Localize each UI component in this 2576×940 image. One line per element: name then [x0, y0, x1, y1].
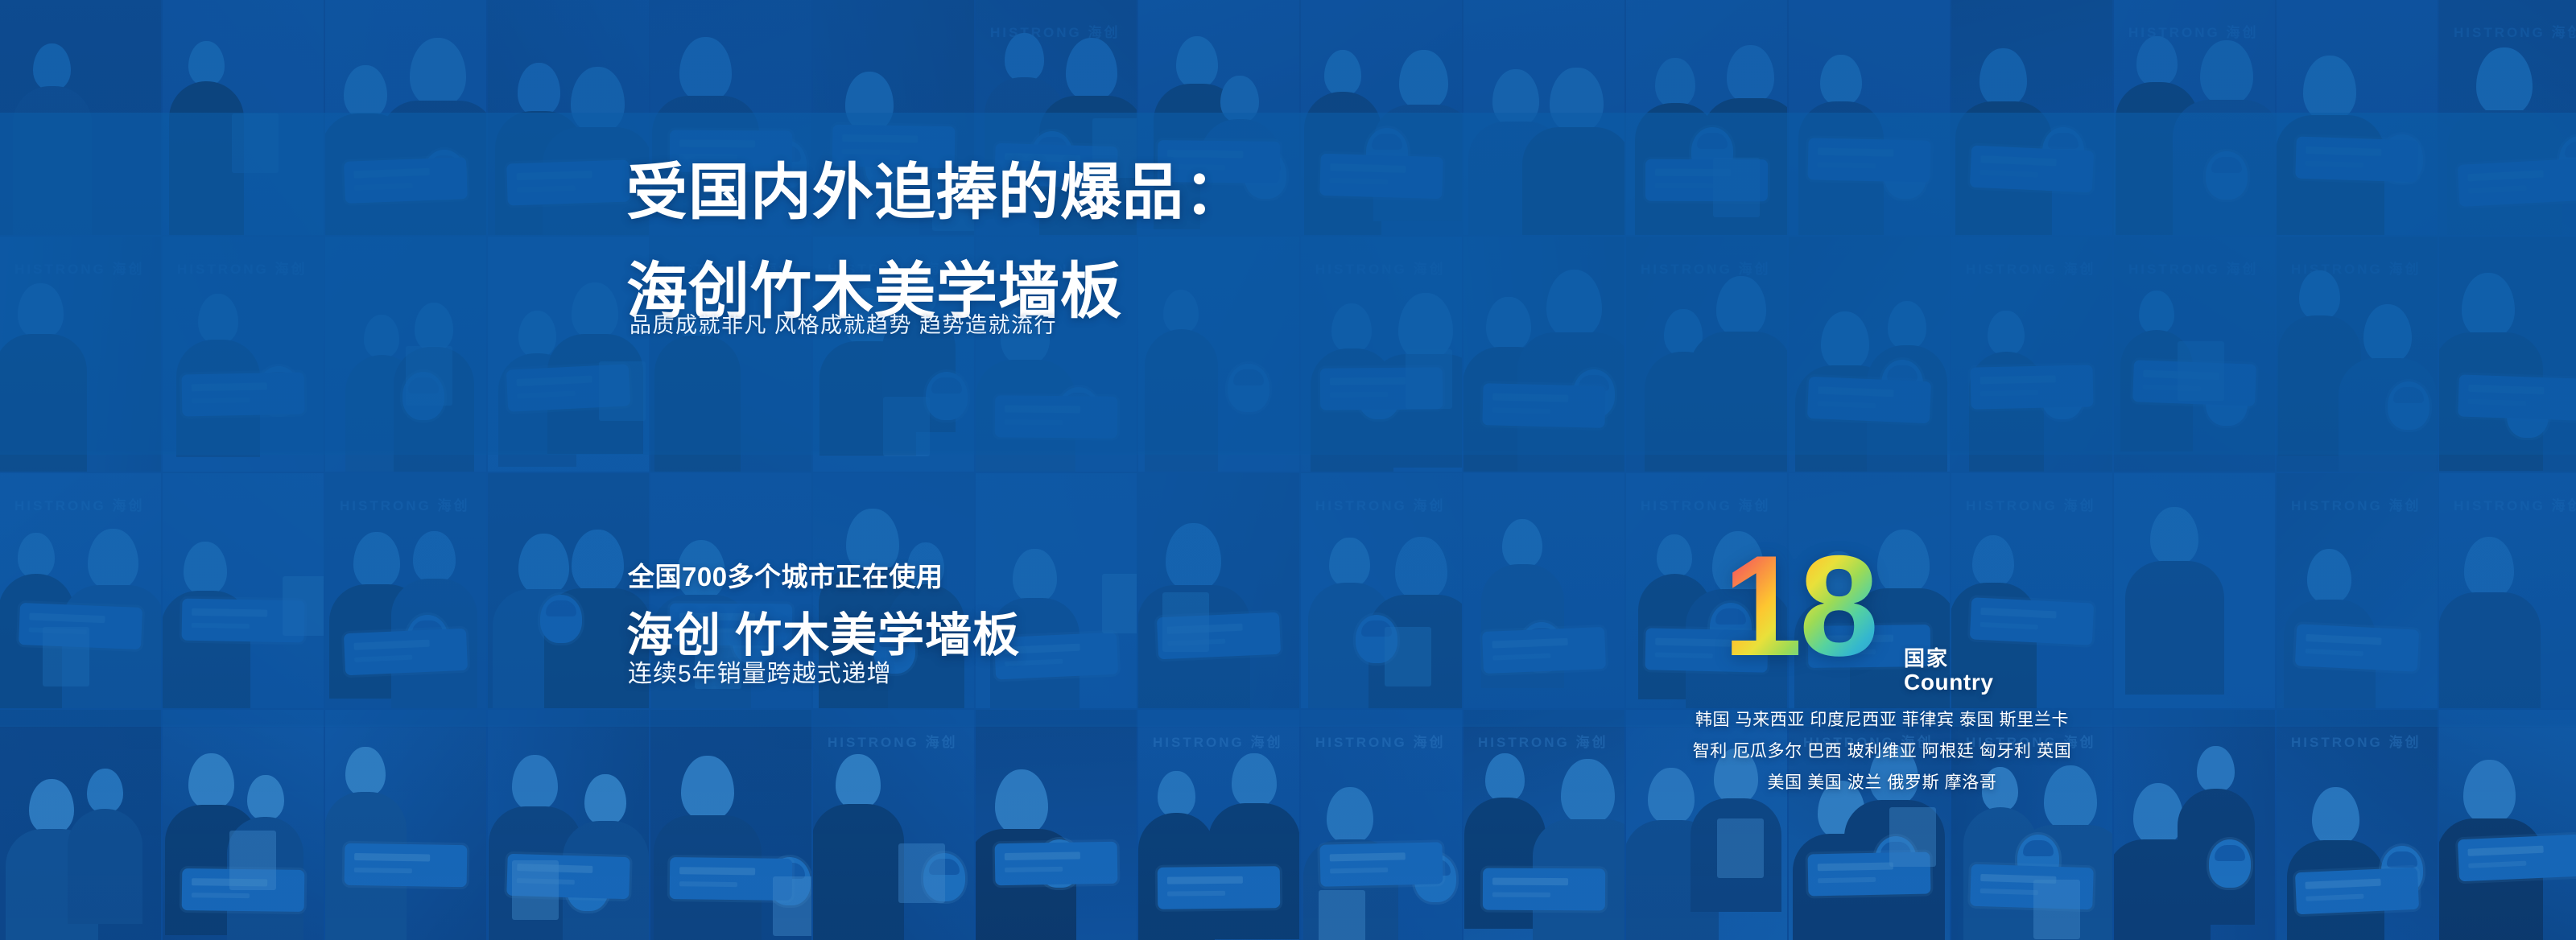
midblock-backdrop-panel [0, 455, 2576, 727]
country-label-cn: 国家 [1904, 642, 1949, 672]
country-list: 韩国 马来西亚 印度尼西亚 菲律宾 泰国 斯里兰卡智利 厄瓜多尔 巴西 玻利维亚… [1657, 711, 2107, 806]
country-line: 智利 厄瓜多尔 巴西 玻利维亚 阿根廷 匈牙利 英国 [1657, 743, 2107, 760]
headline-subtitle: 品质成就非凡 风格成就趋势 趋势造就流行 [630, 307, 1057, 339]
midblock-kicker: 全国700多个城市正在使用 [628, 555, 943, 594]
country-line: 美国 美国 波兰 俄罗斯 摩洛哥 [1657, 774, 2107, 791]
country-count-number: 18 [1723, 534, 1876, 678]
headline-backdrop-panel [0, 113, 2576, 455]
midblock-note: 连续5年销量跨越式递增 [628, 653, 892, 689]
country-line: 韩国 马来西亚 印度尼西亚 菲律宾 泰国 斯里兰卡 [1657, 711, 2107, 728]
country-label-en: Country [1904, 670, 1994, 695]
promo-banner: HISTRONG 海创HISTRONG 海创HISTRONG 海创HISTRON… [0, 0, 2576, 940]
country-count-badge: 18 国家 Country 韩国 马来西亚 印度尼西亚 菲律宾 泰国 斯里兰卡智… [1723, 541, 2109, 814]
